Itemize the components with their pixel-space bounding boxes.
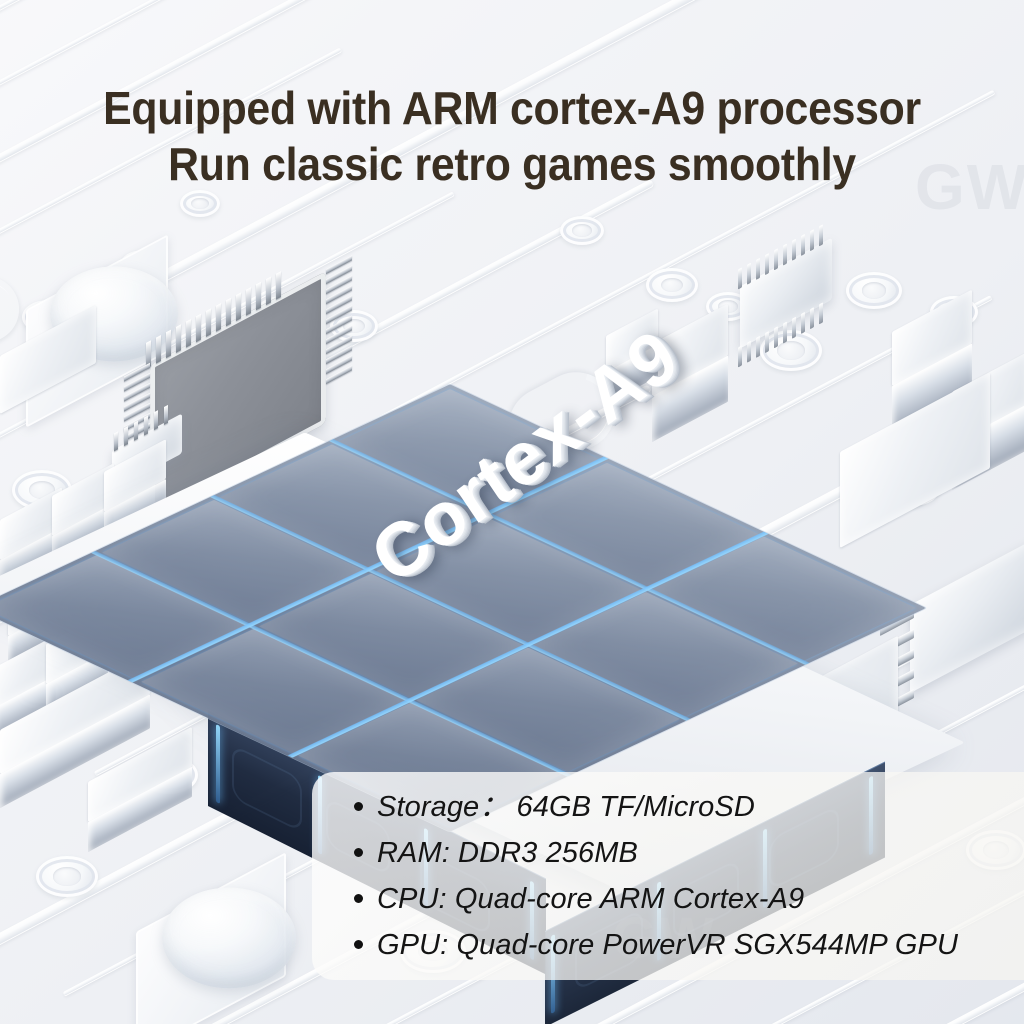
bullet-icon — [354, 802, 363, 811]
headline-line-1: Equipped with ARM cortex-A9 processor — [36, 80, 988, 136]
spec-text-ram: RAM: DDR3 256MB — [377, 836, 638, 870]
spec-text-storage: Storage： 64GB TF/MicroSD — [377, 790, 755, 824]
pcb-via — [646, 268, 698, 302]
cortex-a9-chip: Cortex-A9 — [120, 318, 860, 778]
spec-text-cpu: CPU: Quad-core ARM Cortex-A9 — [377, 882, 804, 916]
pcb-via — [180, 190, 220, 217]
bullet-icon — [354, 848, 363, 857]
specs-panel: Storage： 64GB TF/MicroSD RAM: DDR3 256MB… — [312, 772, 1024, 980]
pcb-via — [560, 216, 604, 245]
product-image-canvas: Cortex-A9 GW GW Equipped with ARM cortex… — [0, 0, 1024, 1024]
headline-line-2: Run classic retro games smoothly — [36, 136, 988, 192]
bullet-icon — [354, 894, 363, 903]
spec-item-ram: RAM: DDR3 256MB — [354, 836, 1024, 870]
spec-text-gpu: GPU: Quad-core PowerVR SGX544MP GPU — [377, 928, 958, 962]
glass-dome-component — [162, 888, 296, 989]
spec-item-cpu: CPU: Quad-core ARM Cortex-A9 — [354, 882, 1024, 916]
bullet-icon — [354, 940, 363, 949]
spec-item-storage: Storage： 64GB TF/MicroSD — [354, 790, 1024, 824]
spec-item-gpu: GPU: Quad-core PowerVR SGX544MP GPU — [354, 928, 1024, 962]
pcb-via — [846, 272, 902, 309]
pcb-via — [36, 856, 98, 897]
headline-block: Equipped with ARM cortex-A9 processor Ru… — [0, 80, 1024, 192]
